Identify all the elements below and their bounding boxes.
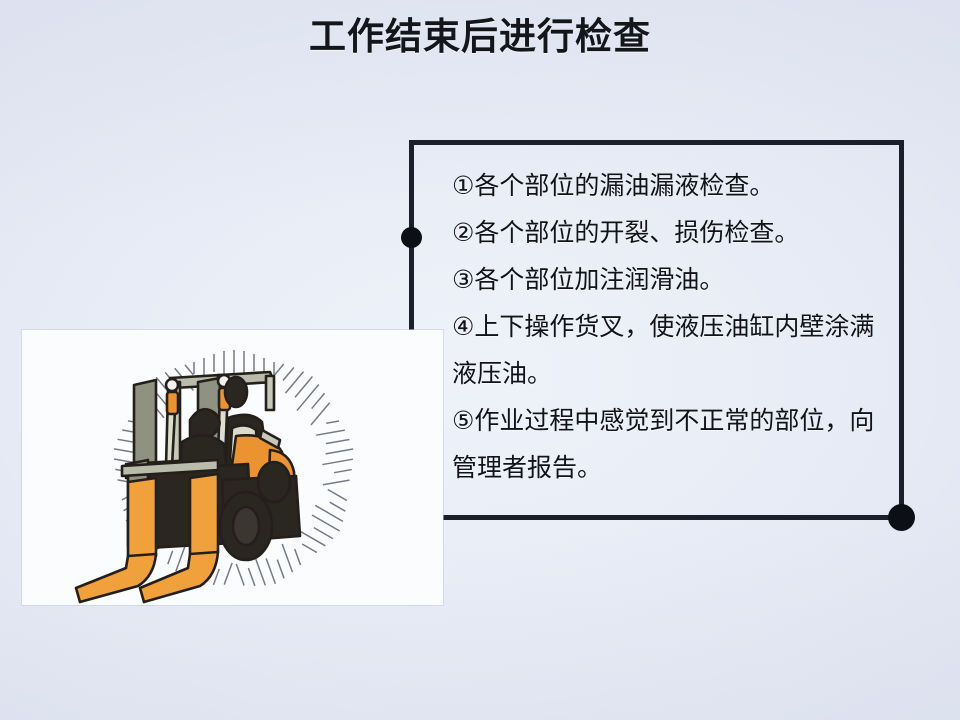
forklift-image-card [22,330,443,605]
frame-bottom-line [443,515,904,520]
checklist-line: ②各个部位的开裂、损伤检查。 [452,210,888,257]
frame-top-line [409,140,904,145]
checklist-line: ③各个部位加注润滑油。 [452,257,888,304]
checklist-line: ⑤作业过程中感觉到不正常的部位，向 [452,398,888,445]
slide-canvas: 工作结束后进行检查 ①各个部位的漏油漏液检查。 ②各个部位的开裂、损伤检查。 ③… [0,0,960,720]
checklist-text-block: ①各个部位的漏油漏液检查。 ②各个部位的开裂、损伤检查。 ③各个部位加注润滑油。… [452,163,888,492]
checklist-line: 液压油。 [452,351,888,398]
forklift-illustration [22,330,443,605]
frame-right-line [899,140,904,520]
checklist-line: ①各个部位的漏油漏液检查。 [452,163,888,210]
checklist-line: ④上下操作货叉，使液压油缸内壁涂满 [452,304,888,351]
frame-left-line [409,140,414,334]
frame-left-node-dot [401,227,422,248]
checklist-line: 管理者报告。 [452,445,888,492]
page-title: 工作结束后进行检查 [0,14,960,60]
frame-corner-node-dot [888,504,915,531]
